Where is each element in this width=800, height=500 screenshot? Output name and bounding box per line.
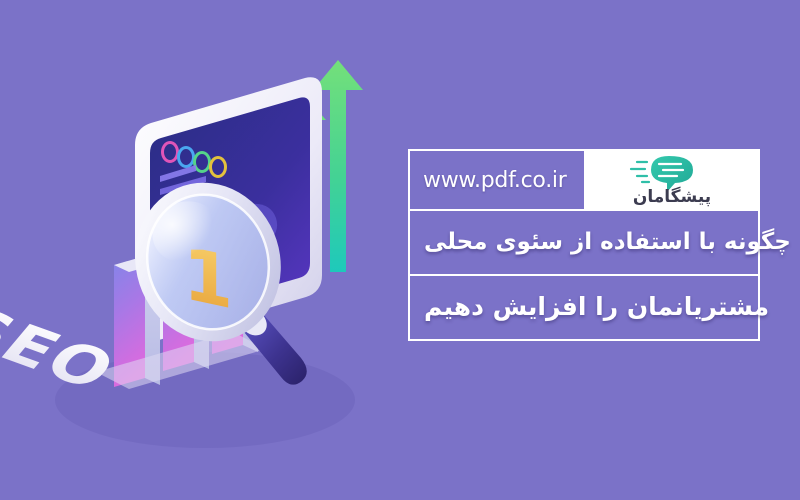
- website-url-text: www.pdf.co.ir: [423, 168, 566, 193]
- bubble-trailing-lines: [631, 162, 649, 182]
- seo-illustration-svg: SEO 1: [0, 0, 400, 500]
- brand-logo-cell[interactable]: پیشگامان: [584, 151, 758, 209]
- promo-row-branding: www.pdf.co.ir: [410, 151, 758, 211]
- website-url-cell[interactable]: www.pdf.co.ir: [410, 151, 584, 209]
- promo-panel: www.pdf.co.ir: [408, 149, 760, 341]
- headline-line-2: مشتریانمان را افزایش دهیم: [424, 293, 769, 322]
- seo-illustration: SEO 1: [0, 0, 400, 500]
- promo-row-headline-1: چگونه با استفاده از سئوی محلی: [410, 211, 758, 276]
- brand-wordmark: پیشگامان: [633, 186, 711, 207]
- promo-row-headline-2: مشتریانمان را افزایش دهیم: [410, 276, 758, 339]
- peshgaman-logo-icon: پیشگامان: [609, 153, 735, 207]
- headline-line-1: چگونه با استفاده از سئوی محلی: [424, 229, 791, 255]
